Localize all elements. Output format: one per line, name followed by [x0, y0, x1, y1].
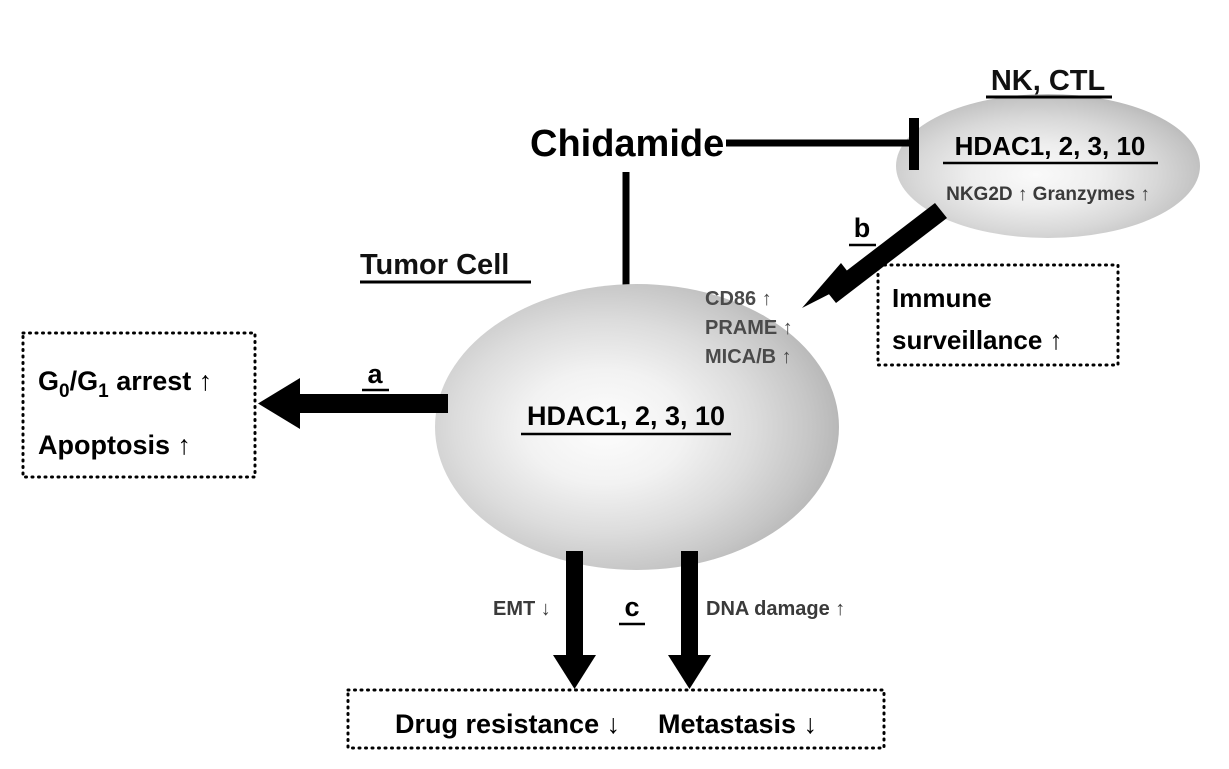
nk-ctl-label: NK, CTL	[991, 65, 1105, 97]
dna-damage-edge-label: DNA damage ↑	[706, 598, 845, 620]
tumor-cell-label: Tumor Cell	[360, 249, 509, 281]
pathway-c-label: c	[624, 592, 639, 622]
tumor-marker-0: CD86 ↑	[705, 288, 772, 310]
pathway-b-label: b	[854, 213, 871, 243]
pathway-a-arrow	[258, 378, 448, 429]
metastasis-text: Metastasis ↓	[658, 709, 817, 739]
immune-surveillance-line1: Immune	[892, 283, 992, 313]
pathway-a-label: a	[367, 359, 383, 389]
tumor-hdac-target: HDAC1, 2, 3, 10	[527, 401, 725, 431]
apoptosis-text: Apoptosis ↑	[38, 430, 191, 460]
pathway-diagram: NK, CTL HDAC1, 2, 3, 10 NKG2D ↑ Granzyme…	[0, 0, 1229, 769]
nk-hdac-target: HDAC1, 2, 3, 10	[955, 131, 1146, 161]
immune-surveillance-line2: surveillance ↑	[892, 325, 1063, 355]
tumor-marker-1: PRAME ↑	[705, 317, 793, 339]
tumor-marker-2: MICA/B ↑	[705, 346, 792, 368]
g0g1-arrest-text: G0/G1 arrest ↑	[38, 366, 212, 402]
diagram-canvas: NK, CTL HDAC1, 2, 3, 10 NKG2D ↑ Granzyme…	[0, 0, 1229, 769]
emt-edge-label: EMT ↓	[493, 598, 551, 620]
nk-effectors: NKG2D ↑ Granzymes ↑	[946, 184, 1150, 205]
inhibition-bar-nk	[909, 118, 919, 170]
pathway-c-arrow-left	[553, 551, 596, 689]
drug-resistance-text: Drug resistance ↓	[395, 709, 620, 739]
pathway-c-arrow-right	[668, 551, 711, 689]
chidamide-title: Chidamide	[530, 123, 724, 165]
